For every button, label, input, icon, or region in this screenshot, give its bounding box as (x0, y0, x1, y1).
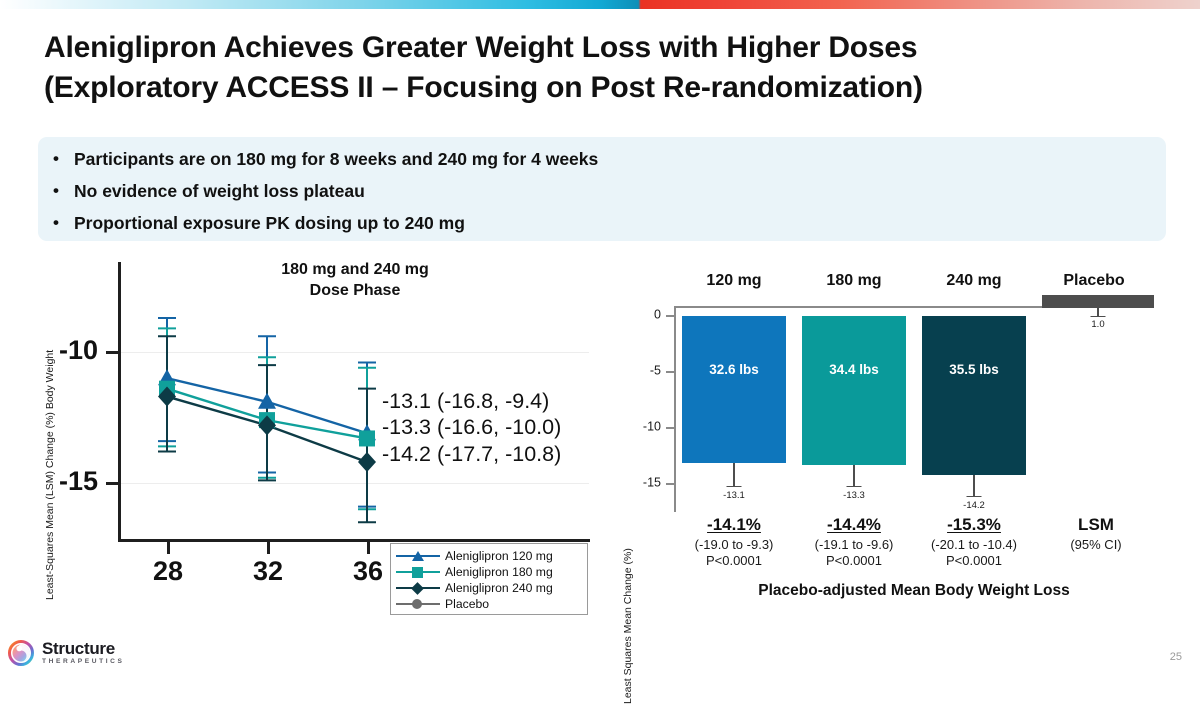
line-chart-value-annotations: -13.1 (-16.8, -9.4) -13.3 (-16.6, -10.0)… (382, 388, 561, 467)
bullet-text: No evidence of weight loss plateau (74, 181, 365, 201)
bar-chart-y-axis (674, 307, 676, 512)
bullet-marker-icon: • (53, 147, 59, 171)
footer-pvalue-120mg: P<0.0001 (695, 553, 774, 568)
page-number: 25 (1170, 651, 1182, 663)
line-chart-x-tick (167, 542, 170, 554)
bar-inner-label-120mg: 32.6 lbs (682, 362, 786, 377)
line-chart-y-tick: -15 (106, 482, 119, 485)
logo-tagline: THERAPEUTICS (42, 659, 125, 666)
line-chart-y-tick: -10 (106, 351, 119, 354)
page-title: Aleniglipron Achieves Greater Weight Los… (44, 28, 1164, 108)
whisker-cap-placebo (1091, 316, 1106, 317)
annotation-120mg: -13.1 (-16.8, -9.4) (382, 388, 561, 414)
footer-pvalue-180mg: P<0.0001 (815, 553, 894, 568)
bullet-text: Proportional exposure PK dosing up to 24… (74, 213, 465, 233)
bar-chart-y-tick-label: -15 (643, 476, 661, 490)
whisker-cap-180mg (847, 486, 862, 487)
bullets-list: • Participants are on 180 mg for 8 weeks… (38, 137, 1166, 236)
bar-240mg[interactable]: 35.5 lbs (922, 316, 1026, 475)
whisker-cap-240mg (967, 496, 982, 497)
bar-footer-120mg: -14.1% (-19.0 to -9.3) P<0.0001 (695, 515, 774, 568)
bar-chart-y-tick: 0 (666, 315, 675, 317)
whisker-stem-180mg (853, 465, 854, 487)
line-chart-y-axis-title: Least-Squares Mean (LSM) Change (%) Body… (44, 350, 56, 600)
bar-column-header-240mg: 240 mg (946, 272, 1001, 290)
footer-ci-label: (95% CI) (1070, 537, 1121, 552)
footer-percent-240mg: -15.3% (931, 515, 1017, 535)
bar-chart-y-tick-label: -5 (650, 364, 661, 378)
line-chart-x-tick (267, 542, 270, 554)
footer-ci-180mg: (-19.1 to -9.6) (815, 537, 894, 552)
line-chart-x-tick-label: 32 (253, 556, 283, 587)
footer-ci-240mg: (-20.1 to -10.4) (931, 537, 1017, 552)
bar-chart: Least Squares Mean Change (%) 120 mg 180… (612, 272, 1172, 612)
list-item: • No evidence of weight loss plateau (38, 179, 1166, 204)
bar-chart-y-tick: -15 (666, 483, 675, 485)
bar-chart-y-tick: -10 (666, 427, 675, 429)
bar-chart-y-axis-title: Least Squares Mean Change (%) (622, 548, 634, 704)
annotation-180mg: -13.3 (-16.6, -10.0) (382, 414, 561, 440)
bullet-marker-icon: • (53, 179, 59, 203)
list-item: • Participants are on 180 mg for 8 weeks… (38, 147, 1166, 172)
bar-chart-y-tick: -5 (666, 371, 675, 373)
whisker-value-180mg: -13.3 (843, 490, 865, 501)
whisker-stem-120mg (733, 463, 734, 487)
line-chart-x-tick-label: 36 (353, 556, 383, 587)
annotation-240mg: -14.2 (-17.7, -10.8) (382, 441, 561, 467)
bar-chart-y-tick-label: 0 (654, 308, 661, 322)
legend-item-120mg[interactable]: Aleniglipron 120 mg (396, 548, 582, 564)
whisker-value-240mg: -14.2 (963, 500, 985, 511)
bullet-marker-icon: • (53, 211, 59, 235)
bullets-panel: • Participants are on 180 mg for 8 weeks… (38, 137, 1166, 241)
whisker-stem-placebo (1097, 295, 1098, 317)
whisker-value-placebo: 1.0 (1091, 319, 1104, 330)
legend-label: Aleniglipron 180 mg (445, 565, 553, 579)
list-item: • Proportional exposure PK dosing up to … (38, 211, 1166, 236)
logo-company-name: Structure (42, 640, 125, 657)
legend-item-180mg[interactable]: Aleniglipron 180 mg (396, 564, 582, 580)
bar-footer-240mg: -15.3% (-20.1 to -10.4) P<0.0001 (931, 515, 1017, 568)
legend-swatch-circle-icon (396, 597, 440, 611)
bar-inner-label-240mg: 35.5 lbs (922, 362, 1026, 377)
bar-column-header-placebo: Placebo (1063, 272, 1124, 290)
legend-label: Aleniglipron 240 mg (445, 581, 553, 595)
legend-item-240mg[interactable]: Aleniglipron 240 mg (396, 580, 582, 596)
bar-chart-y-tick-label: -10 (643, 420, 661, 434)
bar-footer-legend: LSM (95% CI) (1070, 515, 1121, 552)
line-chart-y-tick-label: -10 (59, 335, 98, 366)
footer-lsm-label: LSM (1070, 515, 1121, 535)
whisker-stem-240mg (973, 475, 974, 497)
bullet-text: Participants are on 180 mg for 8 weeks a… (74, 149, 598, 169)
structure-logo-icon (8, 640, 34, 666)
bar-column-header-120mg: 120 mg (706, 272, 761, 290)
legend-label: Aleniglipron 120 mg (445, 549, 553, 563)
footer-percent-120mg: -14.1% (695, 515, 774, 535)
legend-label: Placebo (445, 597, 489, 611)
legend-swatch-square-icon (396, 565, 440, 579)
page-title-line-2: (Exploratory ACCESS II – Focusing on Pos… (44, 68, 1164, 108)
bar-footer-180mg: -14.4% (-19.1 to -9.6) P<0.0001 (815, 515, 894, 568)
logo-text-block: Structure THERAPEUTICS (42, 640, 125, 666)
line-chart-y-tick-label: -15 (59, 466, 98, 497)
line-chart-legend[interactable]: Aleniglipron 120 mg Aleniglipron 180 mg … (390, 543, 588, 615)
line-chart-x-tick (367, 542, 370, 554)
bar-180mg[interactable]: 34.4 lbs (802, 316, 906, 465)
bar-120mg[interactable]: 32.6 lbs (682, 316, 786, 463)
footer-ci-120mg: (-19.0 to -9.3) (695, 537, 774, 552)
legend-swatch-diamond-icon (396, 581, 440, 595)
line-chart-x-tick-label: 28 (153, 556, 183, 587)
company-logo: Structure THERAPEUTICS (8, 640, 125, 666)
legend-swatch-triangle-icon (396, 549, 440, 563)
whisker-value-120mg: -13.1 (723, 490, 745, 501)
page-title-line-1: Aleniglipron Achieves Greater Weight Los… (44, 28, 1164, 68)
brand-gradient-bar (0, 0, 1200, 9)
bar-chart-caption: Placebo-adjusted Mean Body Weight Loss (674, 582, 1154, 600)
bar-inner-label-180mg: 34.4 lbs (802, 362, 906, 377)
footer-percent-180mg: -14.4% (815, 515, 894, 535)
footer-pvalue-240mg: P<0.0001 (931, 553, 1017, 568)
legend-item-placebo[interactable]: Placebo (396, 596, 582, 612)
bar-column-header-180mg: 180 mg (826, 272, 881, 290)
whisker-cap-120mg (727, 486, 742, 487)
